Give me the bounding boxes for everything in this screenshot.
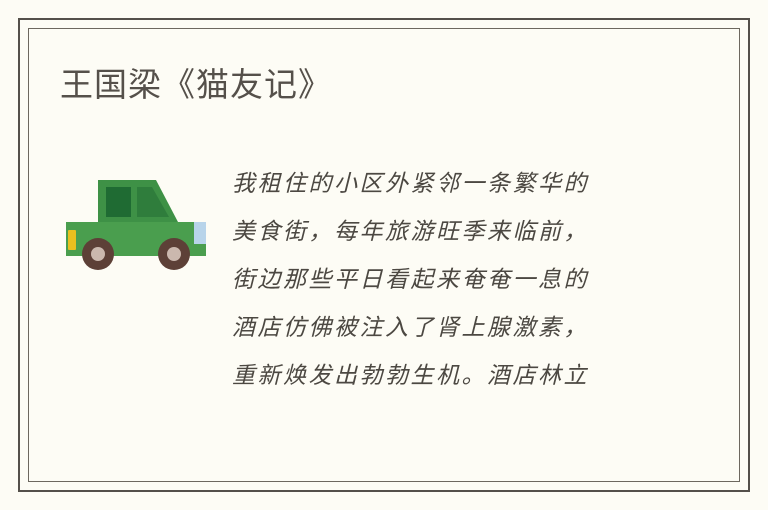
body-line: 街边那些平日看起来奄奄一息的 [232,256,662,304]
article-page: 王国梁《猫友记》 [0,0,768,510]
body-line: 重新焕发出勃勃生机。酒店林立 [232,352,662,400]
article-body: 我租住的小区外紧邻一条繁华的 美食街，每年旅游旺季来临前， 街边那些平日看起来奄… [232,160,662,400]
pickup-truck-icon [66,178,216,270]
body-line: 我租住的小区外紧邻一条繁华的 [232,160,662,208]
body-line: 美食街，每年旅游旺季来临前， [232,208,662,256]
body-line: 酒店仿佛被注入了肾上腺激素， [232,304,662,352]
article-content: 我租住的小区外紧邻一条繁华的 美食街，每年旅游旺季来临前， 街边那些平日看起来奄… [60,160,700,410]
page-title: 王国梁《猫友记》 [60,62,332,108]
